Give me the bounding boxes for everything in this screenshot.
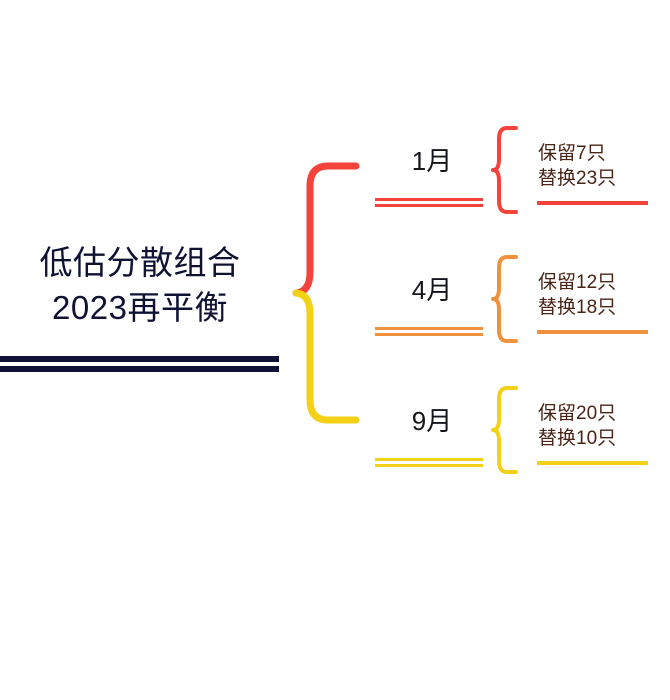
branch-detail-line1-3: 保留20只 (538, 401, 668, 426)
branch-mini-brace-icon-3 (490, 386, 530, 486)
branch-month-rule-bottom-2 (375, 333, 483, 336)
branch-month-rule-2 (375, 327, 483, 336)
main-brace-icon (0, 0, 670, 700)
branch-month-rule-3 (375, 458, 483, 467)
branch-detail-rule-2 (537, 330, 648, 334)
branch-month-label-1: 1月 (372, 144, 492, 178)
branch-detail-rule-1 (537, 201, 648, 205)
branch-detail-line2-3: 替换10只 (538, 426, 668, 451)
main-brace-top-half (296, 166, 356, 293)
branch-month-rule-bottom-3 (375, 464, 483, 467)
branch-mini-brace-icon-1 (490, 126, 530, 226)
branch-detail-rule-3 (537, 461, 648, 465)
diagram-canvas: 低估分散组合 2023再平衡 1月 保留7只 替换23只 4月 (0, 0, 670, 700)
main-brace-bottom-half (296, 293, 356, 420)
branch-detail-line2-1: 替换23只 (538, 166, 668, 191)
branch-month-rule-1 (375, 198, 483, 207)
branch-month-label-3: 9月 (372, 404, 492, 438)
branch-month-label-2: 4月 (372, 273, 492, 307)
branch-detail-line2-2: 替换18只 (538, 295, 668, 320)
branch-detail-line1-2: 保留12只 (538, 270, 668, 295)
branch-month-rule-bottom-1 (375, 204, 483, 207)
branch-detail-line1-1: 保留7只 (538, 141, 668, 166)
branch-mini-brace-icon-2 (490, 255, 530, 355)
